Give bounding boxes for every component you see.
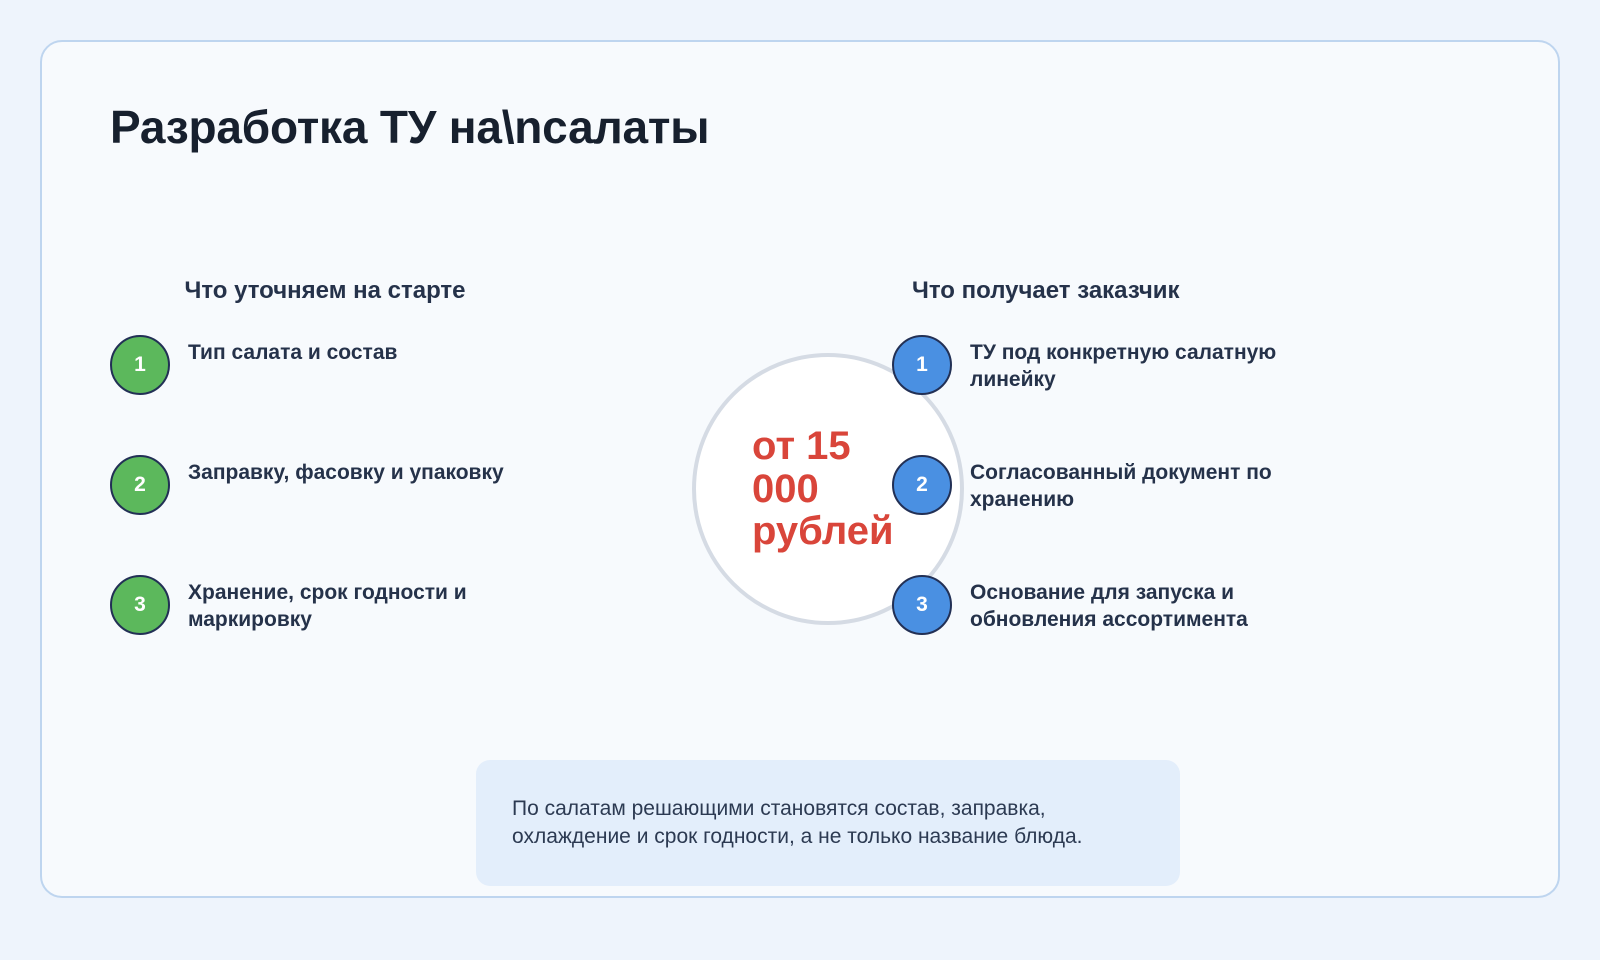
list-item: 2 Заправку, фасовку и упаковку <box>110 455 560 517</box>
list-item-label: Согласованный документ по хранению <box>970 455 1342 514</box>
list-item: 1 ТУ под конкретную салатную линейку <box>892 335 1342 397</box>
list-item-label: ТУ под конкретную салатную линейку <box>970 335 1342 394</box>
note-text: По салатам решающими становятся состав, … <box>476 795 1180 852</box>
list-item: 3 Основание для запуска и обновления асс… <box>892 575 1342 637</box>
step-badge: 2 <box>892 455 952 515</box>
price-label: от 15 000 рублей <box>744 425 912 552</box>
list-item: 3 Хранение, срок годности и маркировку <box>110 575 560 637</box>
info-card: Разработка ТУ на\nсалаты Что уточняем на… <box>40 40 1560 898</box>
note-box: По салатам решающими становятся состав, … <box>476 760 1180 886</box>
list-item-label: Заправку, фасовку и упаковку <box>188 455 504 487</box>
step-badge: 1 <box>892 335 952 395</box>
step-badge: 3 <box>110 575 170 635</box>
list-item-label: Хранение, срок годности и маркировку <box>188 575 560 634</box>
step-badge: 1 <box>110 335 170 395</box>
column-left: Что уточняем на старте 1 Тип салата и со… <box>110 277 560 637</box>
step-badge: 2 <box>110 455 170 515</box>
list-item-label: Тип салата и состав <box>188 335 397 367</box>
list-item: 1 Тип салата и состав <box>110 335 560 397</box>
column-right-heading: Что получает заказчик <box>892 277 1342 305</box>
column-left-heading: Что уточняем на старте <box>110 277 560 305</box>
step-badge: 3 <box>892 575 952 635</box>
list-item-label: Основание для запуска и обновления ассор… <box>970 575 1342 634</box>
page-title: Разработка ТУ на\nсалаты <box>110 100 709 154</box>
